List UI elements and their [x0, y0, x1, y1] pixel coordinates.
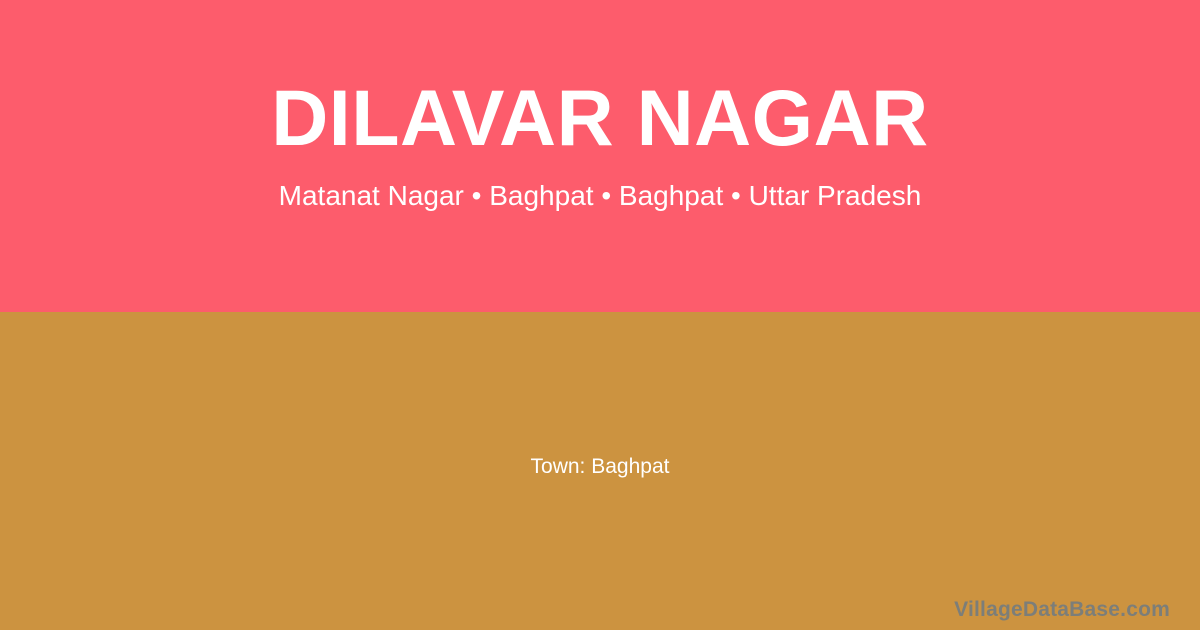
town-detail-text: Town: Baghpat — [531, 453, 670, 480]
village-info-card: DILAVAR NAGAR Matanat Nagar • Baghpat • … — [0, 0, 1200, 630]
breadcrumb: Matanat Nagar • Baghpat • Baghpat • Utta… — [279, 179, 922, 213]
site-watermark: VillageDataBase.com — [954, 598, 1170, 622]
card-body: Town: Baghpat VillageDataBase.com — [0, 312, 1200, 630]
card-header: DILAVAR NAGAR Matanat Nagar • Baghpat • … — [0, 0, 1200, 312]
page-title: DILAVAR NAGAR — [271, 78, 928, 157]
